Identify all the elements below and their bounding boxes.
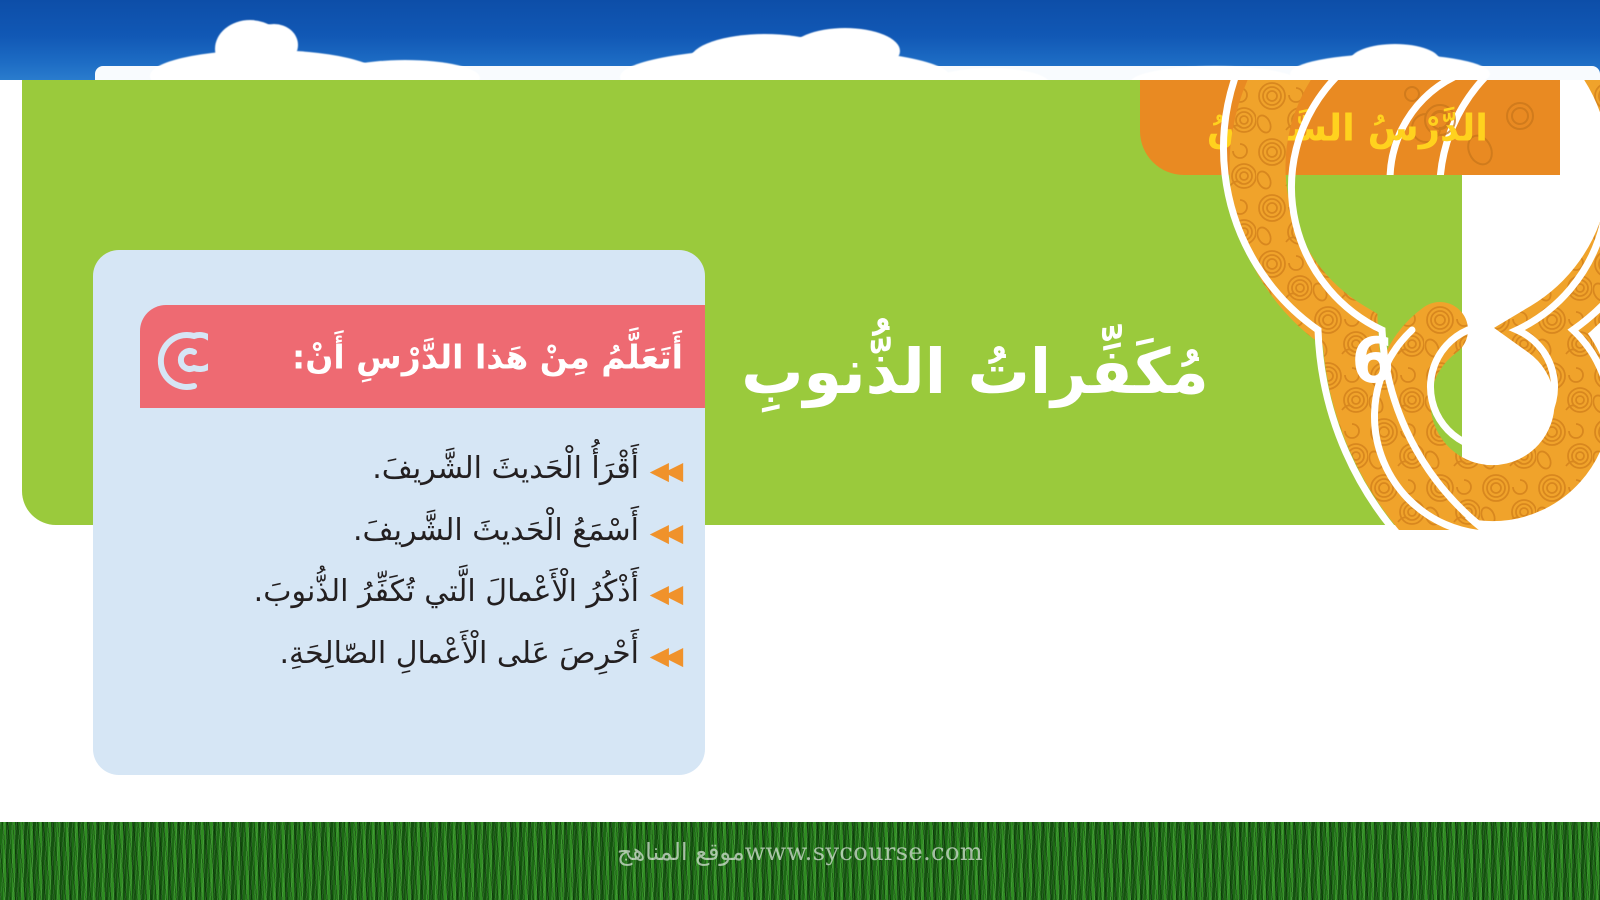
cloud-shape	[1350, 44, 1440, 78]
watermark-url: www.sycourse.com	[745, 838, 983, 866]
grass-footer: موقع المناهجwww.sycourse.com	[0, 822, 1600, 900]
cloud-shape	[250, 24, 298, 66]
page-title: مُكَفِّراتُ الذُّنوبِ	[740, 330, 1210, 414]
double-chevron-icon: ◀◀	[649, 643, 679, 668]
watermark-arabic: موقع المناهج	[617, 838, 745, 866]
objective-text: أَذْكُرُ الْأَعْمالَ الَّتي تُكَفِّرُ ال…	[111, 573, 639, 611]
lesson-number-badge: 6	[1337, 330, 1409, 392]
objectives-header-bar: أَتَعَلَّمُ مِنْ هَذا الدَّرْسِ أَنْ:	[140, 305, 705, 408]
watermark: موقع المناهجwww.sycourse.com	[0, 838, 1600, 866]
lesson-banner: الدَّرْسُ السَّادِسُ	[1140, 80, 1560, 175]
double-chevron-icon: ◀◀	[649, 458, 679, 483]
objectives-card: أَتَعَلَّمُ مِنْ هَذا الدَّرْسِ أَنْ: ◀◀…	[93, 250, 705, 775]
objectives-heading: أَتَعَلَّمُ مِنْ هَذا الدَّرْسِ أَنْ:	[292, 340, 683, 373]
list-item: ◀◀ أَقْرَأُ الْحَديثَ الشَّريفَ.	[111, 450, 687, 488]
cloud-shape	[790, 28, 900, 74]
spiral-icon	[150, 322, 208, 392]
double-chevron-icon: ◀◀	[649, 581, 679, 606]
sky-banner	[0, 0, 1600, 80]
list-item: ◀◀ أَحْرِصَ عَلى الْأَعْمالِ الصّالِحَةِ…	[111, 635, 687, 673]
double-chevron-icon: ◀◀	[649, 520, 679, 545]
objective-text: أَقْرَأُ الْحَديثَ الشَّريفَ.	[111, 450, 639, 488]
objective-text: أَسْمَعُ الْحَديثَ الشَّريفَ.	[111, 512, 639, 550]
objectives-list: ◀◀ أَقْرَأُ الْحَديثَ الشَّريفَ. ◀◀ أَسْ…	[111, 450, 687, 696]
objective-text: أَحْرِصَ عَلى الْأَعْمالِ الصّالِحَةِ.	[111, 635, 639, 673]
lesson-label: الدَّرْسُ السَّادِسُ	[1207, 109, 1488, 146]
list-item: ◀◀ أَذْكُرُ الْأَعْمالَ الَّتي تُكَفِّرُ…	[111, 573, 687, 611]
list-item: ◀◀ أَسْمَعُ الْحَديثَ الشَّريفَ.	[111, 512, 687, 550]
